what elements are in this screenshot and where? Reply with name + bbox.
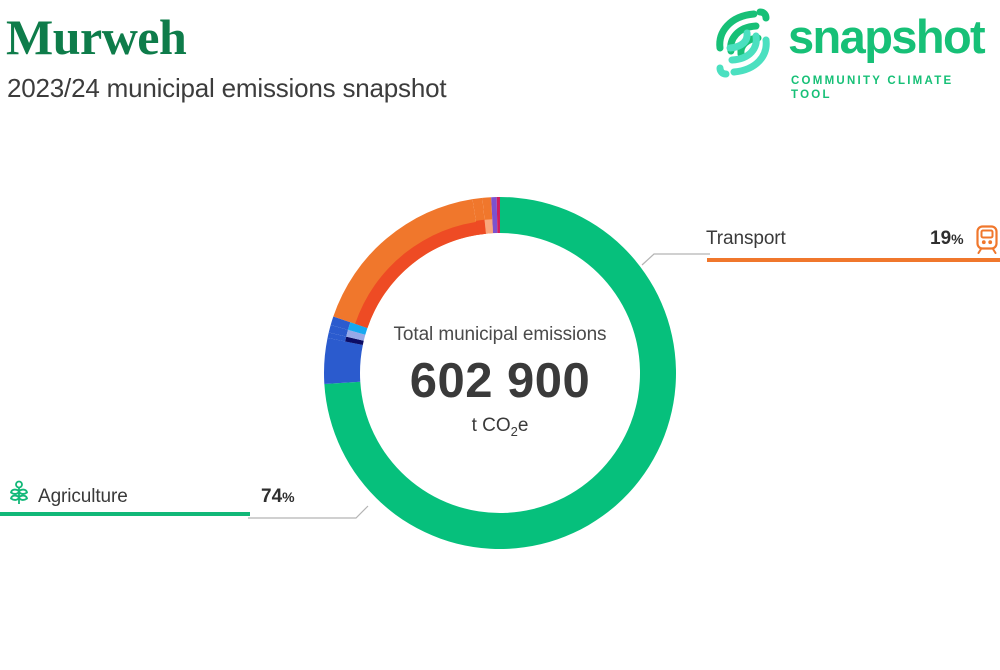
brand-logo: snapshot COMMUNITY CLIMATE TOOL [706,4,998,90]
page-title: Murweh [6,8,186,66]
callout-agriculture[interactable]: Agriculture 74% [0,480,370,526]
agriculture-percent-symbol: % [282,489,294,505]
transport-percent-symbol: % [951,231,963,247]
donut-segment-accent-7[interactable] [485,219,493,234]
page-header: Murweh 2023/24 municipal emissions snaps… [0,0,1000,118]
callout-transport-rule [707,258,1000,262]
callout-agriculture-rule [0,512,250,516]
callout-transport-label: Transport [706,228,786,250]
wheat-icon [6,480,32,510]
callout-transport-percent: 19% [930,228,964,250]
snapshot-swirl-logo-icon [710,6,776,80]
donut-segment-stationary-energy-electricity-[interactable] [324,338,363,384]
agriculture-leader-line [248,504,370,524]
train-icon [974,224,1000,254]
transport-percent-value: 19 [930,228,951,249]
logo-wordmark: snapshot [788,10,984,64]
logo-tagline: COMMUNITY CLIMATE TOOL [791,74,998,102]
callout-agriculture-label: Agriculture [38,486,128,508]
callout-transport[interactable]: Transport 19% [640,222,1000,268]
page-subtitle: 2023/24 municipal emissions snapshot [7,72,446,104]
